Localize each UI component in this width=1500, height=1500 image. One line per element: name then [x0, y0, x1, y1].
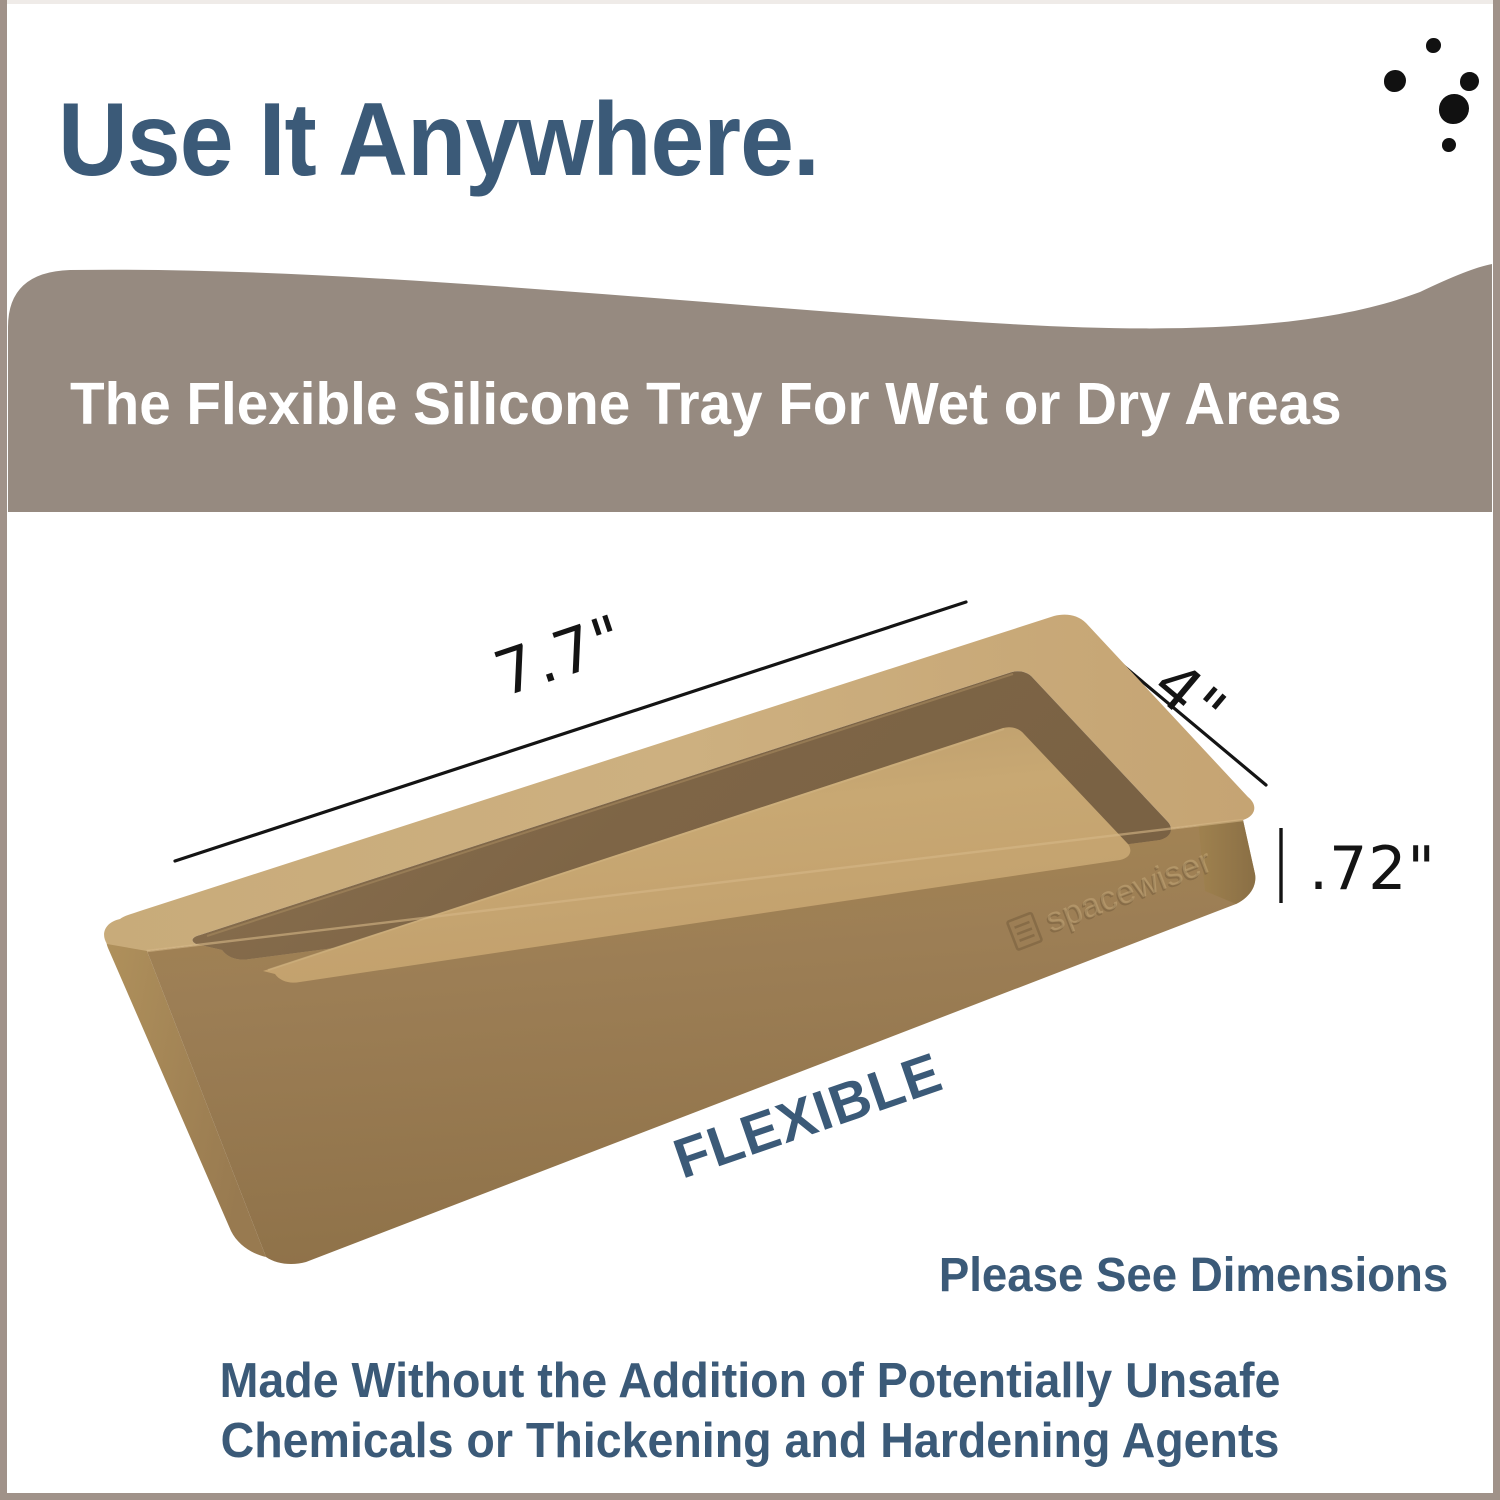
- banner-subtitle: The Flexible Silicone Tray For Wet or Dr…: [70, 370, 1342, 438]
- dimension-label-height: .72": [1309, 834, 1436, 904]
- frame-edge-bottom: [0, 1493, 1500, 1500]
- subtitle-banner: The Flexible Silicone Tray For Wet or Dr…: [0, 262, 1500, 512]
- disclaimer-text: Made Without the Addition of Potentially…: [0, 1352, 1500, 1472]
- disclaimer-line-2: Chemicals or Thickening and Hardening Ag…: [38, 1412, 1463, 1472]
- dot-icon-5: [1442, 138, 1456, 152]
- frame-edge-left: [0, 0, 7, 1500]
- dot-icon-2: [1384, 70, 1406, 92]
- frame-edge-top: [0, 0, 1500, 4]
- dot-icon-1: [1426, 38, 1441, 53]
- frame-edge-right: [1493, 0, 1500, 1500]
- dot-cluster-decoration: [1340, 20, 1500, 180]
- page-title: Use It Anywhere.: [58, 88, 819, 192]
- see-dimensions-note: Please See Dimensions: [939, 1248, 1448, 1303]
- disclaimer-line-1: Made Without the Addition of Potentially…: [38, 1352, 1463, 1412]
- product-marketing-image: Use It Anywhere. The Flexible Silicone T…: [0, 0, 1500, 1500]
- dot-icon-3: [1460, 72, 1479, 91]
- dot-icon-4: [1439, 94, 1469, 124]
